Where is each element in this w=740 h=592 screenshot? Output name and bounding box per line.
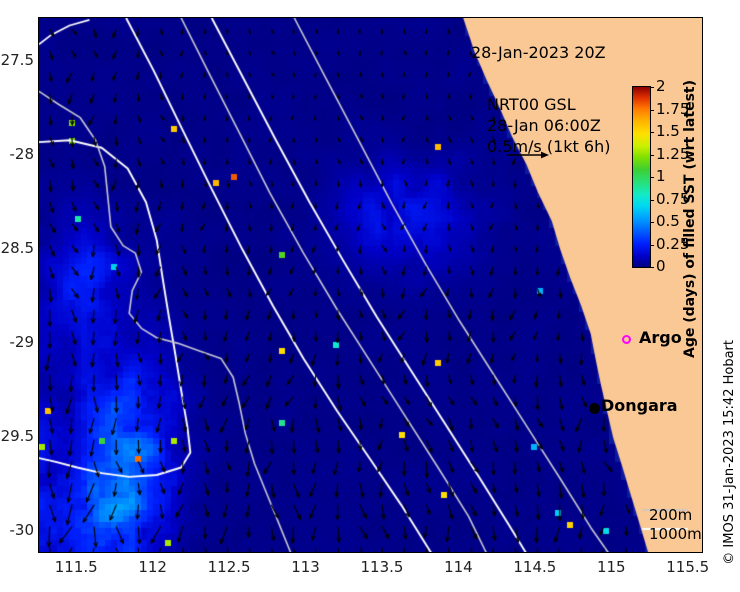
isobath-200m-label: 200m xyxy=(649,506,702,525)
x-tick-label: 112.5 xyxy=(208,558,251,576)
colorbar-tick xyxy=(650,177,654,178)
bathymetry-legend: 200m 1000m xyxy=(649,506,702,544)
colorbar-tick xyxy=(650,87,654,88)
reference-arrow-icon xyxy=(505,149,551,161)
isobath-1000m-label: 1000m xyxy=(649,525,702,544)
colorbar-gradient xyxy=(632,86,651,268)
x-tick-label: 115 xyxy=(597,558,626,576)
y-tick-label: -29.5 xyxy=(0,427,34,445)
x-tick-label: 113.5 xyxy=(360,558,403,576)
colorbar-tick xyxy=(650,267,654,268)
map-plot-area[interactable]: 28-Jan-2023 20Z NRT00 GSL 28-Jan 06:00Z … xyxy=(38,17,703,553)
y-tick-label: -29 xyxy=(10,333,35,351)
x-tick-label: 112 xyxy=(138,558,167,576)
y-tick-label: -30 xyxy=(10,521,35,539)
x-tick-label: 114.5 xyxy=(513,558,556,576)
figure-canvas: 28-Jan-2023 20Z NRT00 GSL 28-Jan 06:00Z … xyxy=(0,0,740,592)
colorbar-tick xyxy=(650,132,654,133)
dongara-label: Dongara xyxy=(601,396,678,415)
y-tick-label: -27.5 xyxy=(0,51,34,69)
dongara-marker-icon[interactable] xyxy=(589,403,600,414)
x-tick-label: 113 xyxy=(291,558,320,576)
x-tick-label: 114 xyxy=(444,558,473,576)
colorbar-title: Age (days) of filled SST (wrt latest) xyxy=(682,80,698,358)
product-name: NRT00 GSL xyxy=(487,94,610,115)
colorbar-tick xyxy=(650,110,654,111)
colorbar-tick-label: 1 xyxy=(656,167,666,185)
colorbar-tick xyxy=(650,222,654,223)
datetime-stamp: 28-Jan-2023 20Z xyxy=(471,43,606,62)
colorbar-tick-label: 0 xyxy=(656,257,666,275)
colorbar-tick xyxy=(650,155,654,156)
product-time: 28-Jan 06:00Z xyxy=(487,115,610,136)
colorbar-tick xyxy=(650,200,654,201)
argo-label: Argo xyxy=(639,328,682,347)
argo-marker-icon[interactable] xyxy=(622,335,631,344)
product-info-block: NRT00 GSL 28-Jan 06:00Z 0.5m/s (1kt 6h) xyxy=(487,94,610,157)
colorbar-tick-label: 1.5 xyxy=(656,122,680,140)
colorbar-tick-label: 0.5 xyxy=(656,212,680,230)
colorbar-tick xyxy=(650,245,654,246)
y-tick-label: -28.5 xyxy=(0,239,34,257)
colorbar-tick-label: 2 xyxy=(656,77,666,95)
colorbar[interactable]: 00.250.50.7511.251.51.752 xyxy=(632,86,651,268)
y-tick-label: -28 xyxy=(10,145,35,163)
x-tick-label: 115.5 xyxy=(666,558,709,576)
x-tick-label: 111.5 xyxy=(55,558,98,576)
copyright-credit: © IMOS 31-Jan-2023 15:42 Hobart xyxy=(722,340,737,565)
